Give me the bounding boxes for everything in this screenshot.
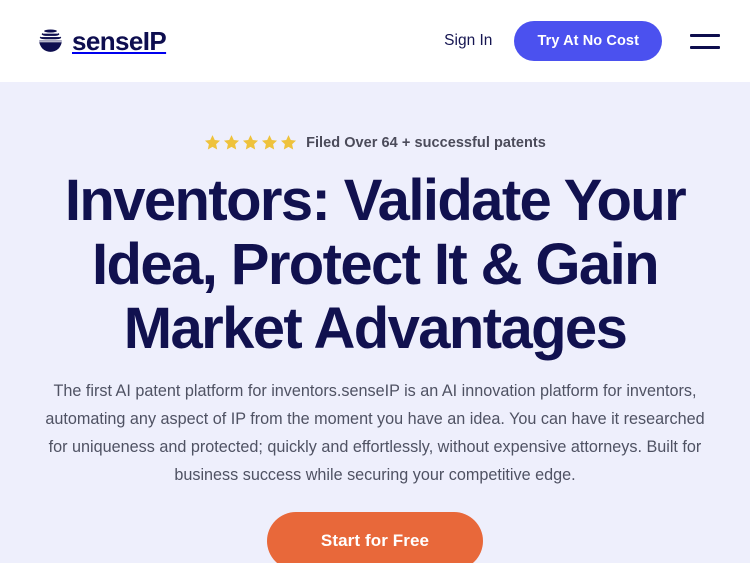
sphere-bowl-logo-icon bbox=[38, 26, 63, 56]
star-icon bbox=[204, 134, 221, 151]
star-rating bbox=[204, 134, 297, 151]
page-root: senseIP Sign In Try At No Cost Filed Ove… bbox=[0, 0, 750, 563]
star-icon bbox=[242, 134, 259, 151]
site-header: senseIP Sign In Try At No Cost bbox=[0, 0, 750, 82]
rating-row: Filed Over 64 + successful patents bbox=[22, 82, 728, 151]
star-icon bbox=[223, 134, 240, 151]
hero-subcopy: The first AI patent platform for invento… bbox=[44, 378, 706, 489]
hamburger-line-2 bbox=[690, 46, 720, 49]
start-for-free-button[interactable]: Start for Free bbox=[267, 512, 483, 563]
brand-name: senseIP bbox=[72, 28, 166, 54]
star-icon bbox=[280, 134, 297, 151]
hero-headline: Inventors: Validate Your Idea, Protect I… bbox=[22, 169, 728, 360]
rating-text: Filed Over 64 + successful patents bbox=[306, 135, 546, 151]
try-at-no-cost-button[interactable]: Try At No Cost bbox=[514, 21, 662, 61]
hamburger-menu-icon[interactable] bbox=[690, 28, 720, 54]
hero-section: Filed Over 64 + successful patents Inven… bbox=[0, 82, 750, 563]
star-icon bbox=[261, 134, 278, 151]
hero-cta-wrapper: Start for Free bbox=[22, 512, 728, 563]
header-nav: Sign In Try At No Cost bbox=[444, 21, 720, 61]
brand-logo-link[interactable]: senseIP bbox=[38, 26, 166, 56]
hamburger-line-1 bbox=[690, 34, 720, 37]
sign-in-link[interactable]: Sign In bbox=[444, 32, 492, 50]
